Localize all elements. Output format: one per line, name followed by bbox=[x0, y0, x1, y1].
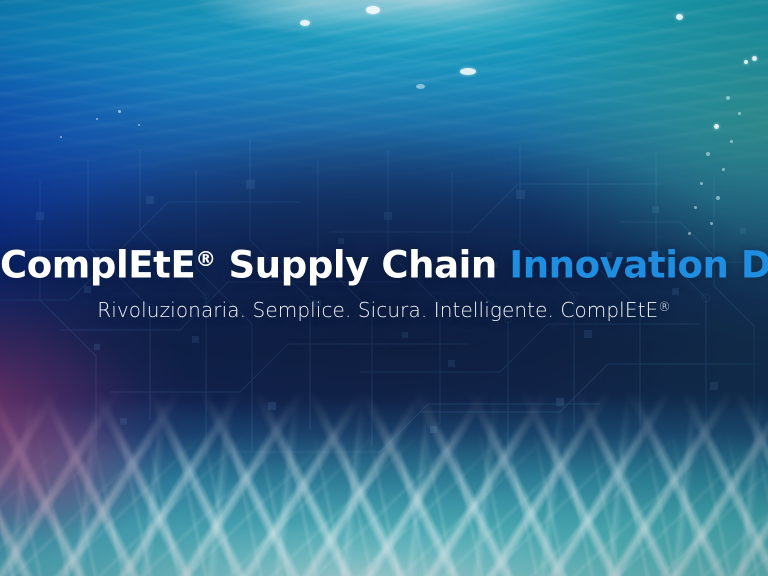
headline-middle: Supply Chain bbox=[216, 243, 509, 286]
banner-subtitle: Rivoluzionaria. Semplice. Sicura. Intell… bbox=[0, 294, 768, 323]
registered-trademark-icon-subtitle: ® bbox=[658, 299, 671, 314]
headline-accent: Innovation Day bbox=[509, 243, 768, 286]
banner-headline: ComplEtE® Supply Chain Innovation Day bbox=[0, 236, 768, 288]
subtitle-text: Rivoluzionaria. Semplice. Sicura. Intell… bbox=[97, 299, 658, 323]
registered-trademark-icon: ® bbox=[195, 247, 216, 271]
banner-text-block: ComplEtE® Supply Chain Innovation Day Ri… bbox=[0, 236, 768, 324]
headline-brand: ComplEtE bbox=[0, 243, 195, 286]
event-banner: ComplEtE® Supply Chain Innovation Day Ri… bbox=[0, 0, 768, 576]
